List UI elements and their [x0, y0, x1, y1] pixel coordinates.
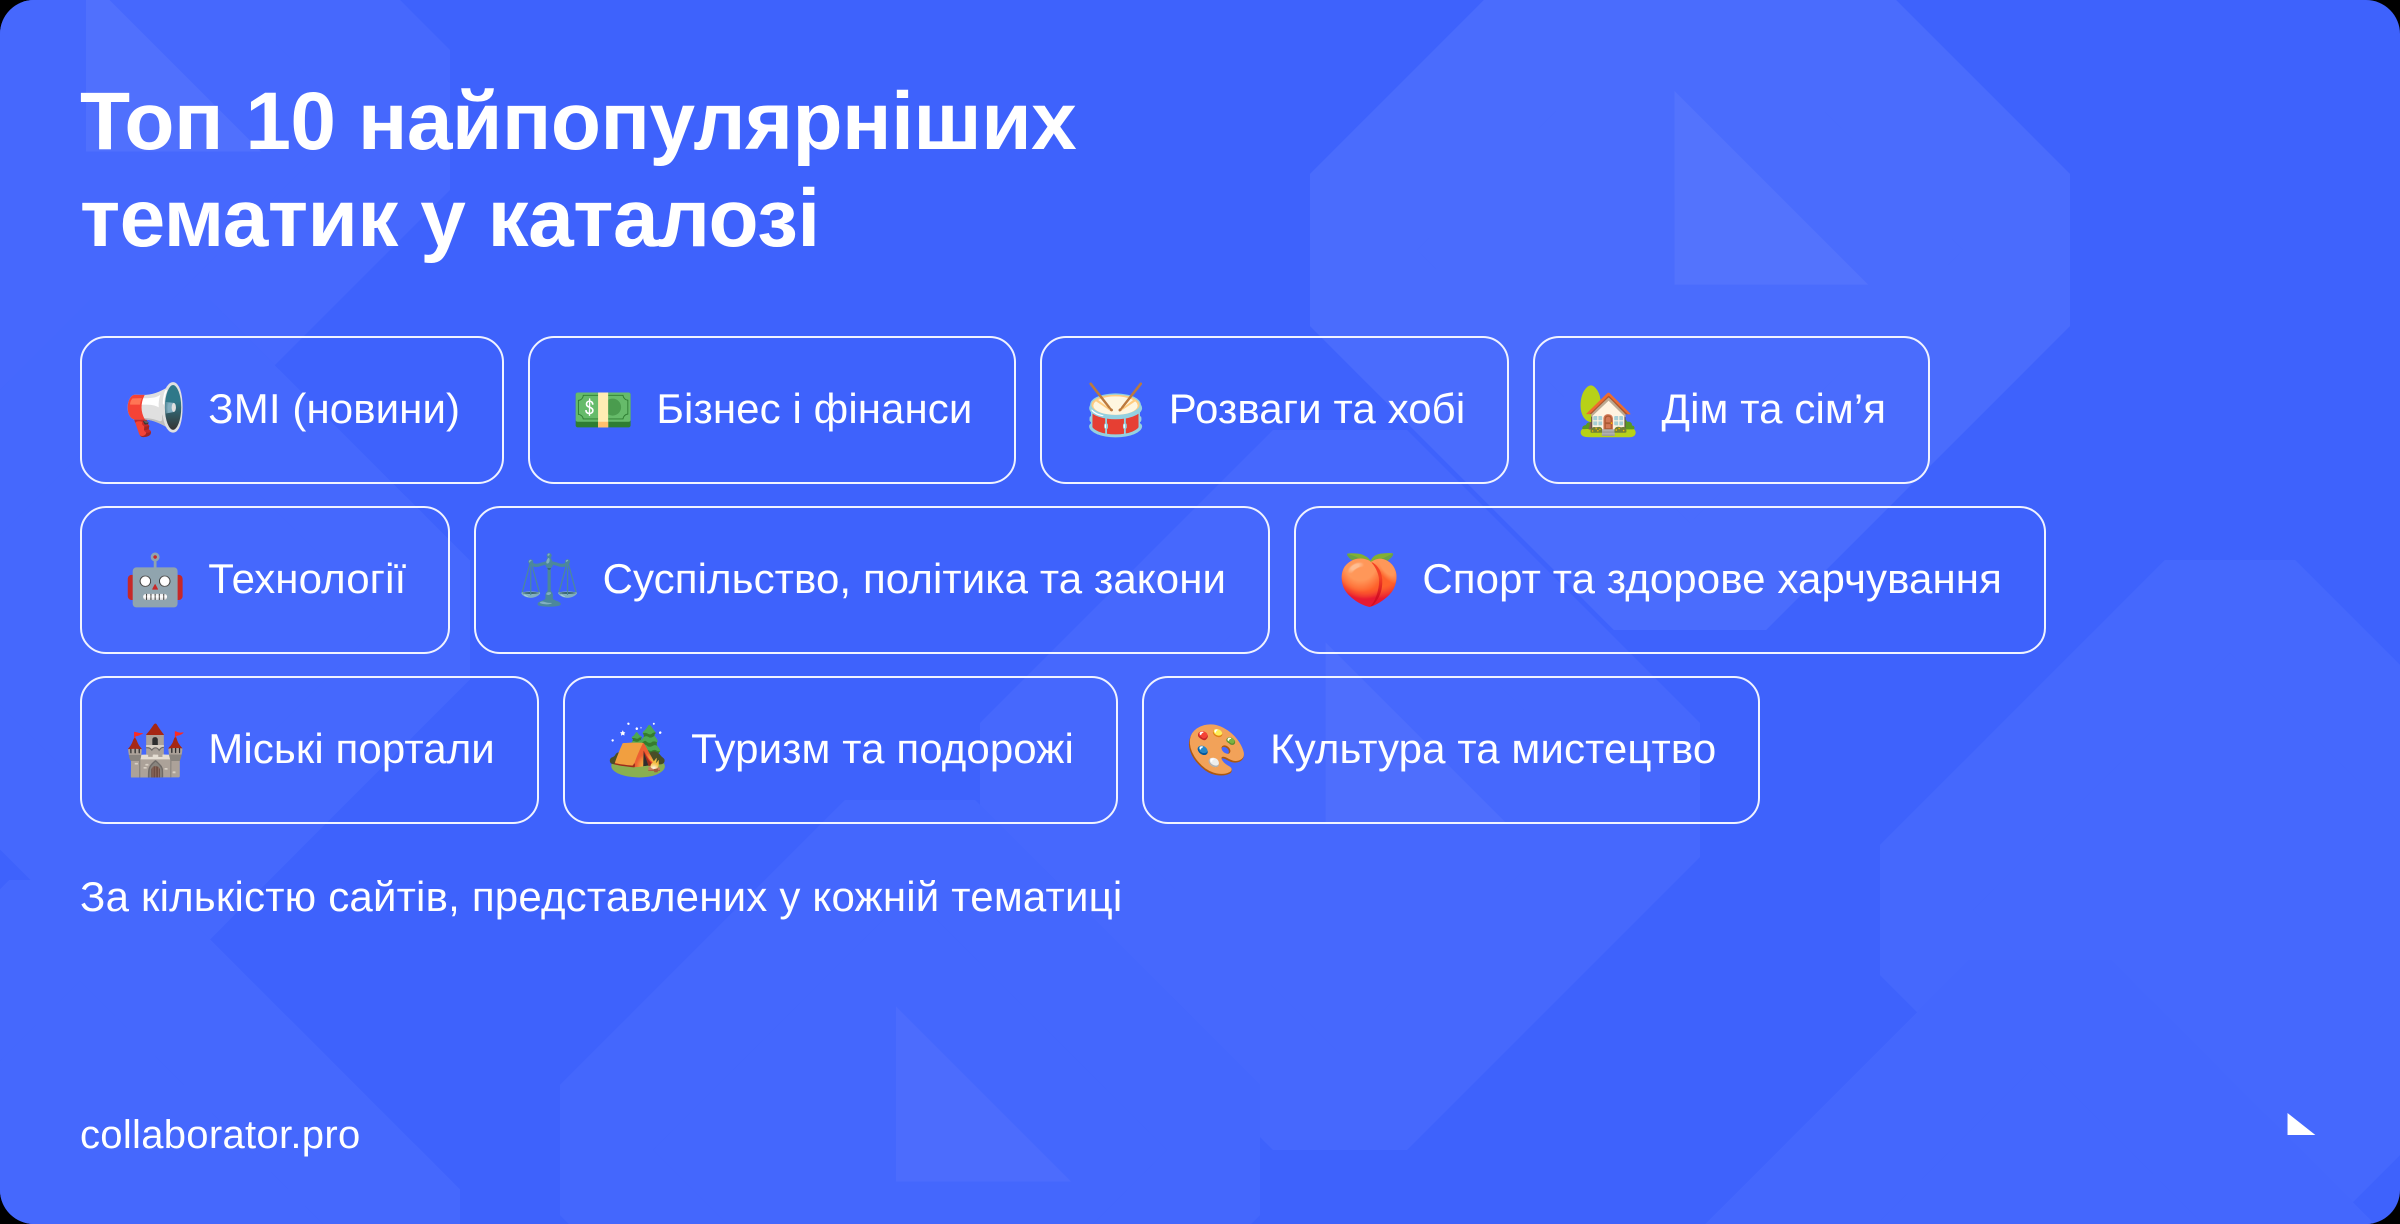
topic-pill[interactable]: 🍑Спорт та здорове харчування: [1294, 506, 2046, 654]
topic-pill-label: Дім та сім’я: [1662, 386, 1887, 432]
artist-palette-icon: 🎨: [1186, 725, 1248, 775]
drum-icon: 🥁: [1084, 385, 1146, 435]
topic-pill[interactable]: 🤖Технології: [80, 506, 450, 654]
topic-pill-label: Міські портали: [208, 726, 495, 772]
topic-pill[interactable]: 💵Бізнес і фінанси: [528, 336, 1016, 484]
pill-row: 📢ЗМІ (новини)💵Бізнес і фінанси🥁Розваги т…: [80, 336, 2320, 484]
pill-row: 🏰Міські портали🏕️Туризм та подорожі🎨Куль…: [80, 676, 2320, 824]
topic-pill-label: Технології: [208, 556, 406, 602]
balance-scale-icon: ⚖️: [518, 555, 580, 605]
topic-pill-groups: 📢ЗМІ (новини)💵Бізнес і фінанси🥁Розваги т…: [80, 336, 2320, 824]
camping-tent-icon: 🏕️: [607, 725, 669, 775]
pill-row: 🤖Технології⚖️Суспільство, політика та за…: [80, 506, 2320, 654]
promo-banner: Топ 10 найпопулярніших тематик у каталоз…: [0, 0, 2400, 1224]
topic-pill-label: ЗМІ (новини): [208, 386, 460, 432]
topic-pill[interactable]: 🥁Розваги та хобі: [1040, 336, 1509, 484]
banknote-icon: 💵: [572, 385, 634, 435]
topic-pill-label: Культура та мистецтво: [1270, 726, 1716, 772]
castle-icon: 🏰: [124, 725, 186, 775]
topic-pill[interactable]: 🏕️Туризм та подорожі: [563, 676, 1118, 824]
peach-icon: 🍑: [1338, 555, 1400, 605]
collaborator-logo-icon: [2262, 1106, 2320, 1164]
banner-content: Топ 10 найпопулярніших тематик у каталоз…: [0, 0, 2400, 1224]
topic-pill[interactable]: 🏰Міські портали: [80, 676, 539, 824]
topic-pill-label: Бізнес і фінанси: [656, 386, 972, 432]
topic-pill[interactable]: 🏡Дім та сім’я: [1533, 336, 1930, 484]
topic-pill[interactable]: ⚖️Суспільство, політика та закони: [474, 506, 1270, 654]
topic-pill-label: Суспільство, політика та закони: [603, 556, 1227, 602]
robot-icon: 🤖: [124, 555, 186, 605]
site-url-label[interactable]: collaborator.pro: [80, 1113, 361, 1158]
page-title: Топ 10 найпопулярніших тематик у каталоз…: [80, 74, 1480, 268]
banner-footer: collaborator.pro: [80, 1106, 2320, 1164]
megaphone-icon: 📢: [124, 385, 186, 435]
house-with-garden-icon: 🏡: [1577, 385, 1639, 435]
subtitle-text: За кількістю сайтів, представлених у кож…: [80, 872, 2320, 922]
topic-pill[interactable]: 🎨Культура та мистецтво: [1142, 676, 1760, 824]
topic-pill[interactable]: 📢ЗМІ (новини): [80, 336, 504, 484]
topic-pill-label: Спорт та здорове харчування: [1422, 556, 2002, 602]
topic-pill-label: Розваги та хобі: [1169, 386, 1466, 432]
topic-pill-label: Туризм та подорожі: [691, 726, 1074, 772]
